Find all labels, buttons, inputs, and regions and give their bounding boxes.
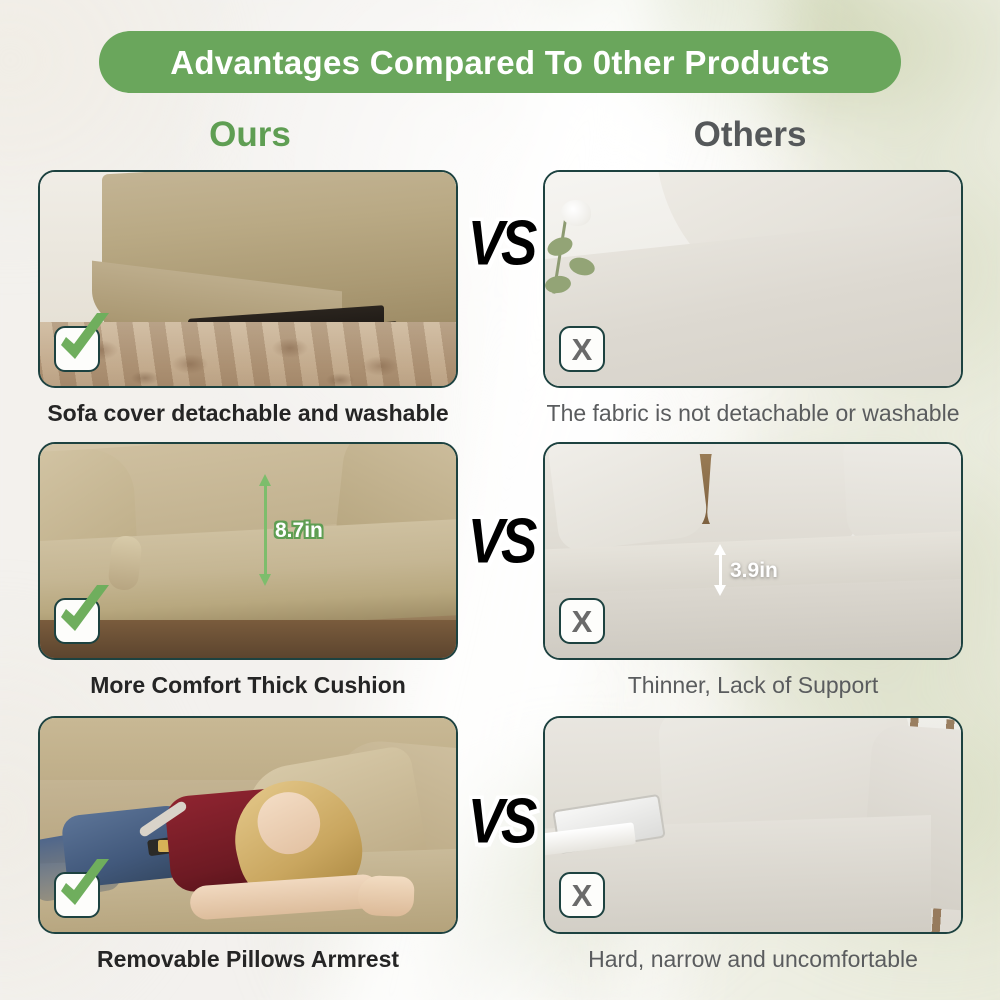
ours-photo-card-3 — [38, 716, 458, 934]
arrow-head-down — [259, 574, 271, 586]
ours-caption-1: Sofa cover detachable and washable — [38, 402, 458, 425]
photo-pillow — [842, 442, 963, 545]
others-caption-3: Hard, narrow and uncomfortable — [543, 948, 963, 971]
comparison-row-3: X VS Removable Pillows Armrest Hard, nar… — [0, 716, 1000, 984]
check-icon — [47, 311, 117, 375]
column-header-others: Others — [500, 117, 1000, 152]
measurement-arrow — [713, 544, 727, 596]
photo-person-hand — [357, 875, 414, 917]
page-title: Advantages Compared To 0ther Products — [170, 46, 830, 79]
arrow-shaft — [719, 552, 722, 588]
others-photo-card-1: X — [543, 170, 963, 388]
check-icon-badge — [54, 872, 100, 918]
check-icon-badge — [54, 326, 100, 372]
title-banner: Advantages Compared To 0ther Products — [99, 31, 901, 93]
check-icon — [47, 857, 117, 921]
comparison-row-2: 8.7in — [0, 442, 1000, 710]
cross-icon: X — [572, 606, 593, 637]
photo-pillow — [546, 442, 709, 553]
arrow-head-down — [714, 585, 726, 596]
cross-icon: X — [572, 880, 593, 911]
cross-icon-badge: X — [559, 872, 605, 918]
vs-badge-3: VS — [456, 790, 546, 853]
ours-caption-3: Removable Pillows Armrest — [38, 948, 458, 971]
arrow-shaft — [264, 482, 267, 578]
column-header-ours: Ours — [0, 117, 500, 152]
vs-badge-1: VS — [456, 212, 546, 275]
photo-pillow — [706, 442, 863, 547]
measurement-arrow — [258, 474, 272, 586]
ours-photo-card-2: 8.7in — [38, 442, 458, 660]
others-photo-card-3: X — [543, 716, 963, 934]
photo-hard-narrow-armrest — [545, 718, 961, 932]
vs-badge-2: VS — [456, 510, 546, 573]
measurement-value-ours: 8.7in — [275, 520, 323, 541]
comparison-row-1: X VS Sofa cover detachable and washable … — [0, 170, 1000, 438]
photo-fabric-not-detachable — [545, 172, 961, 386]
cross-icon-badge: X — [559, 598, 605, 644]
others-caption-2: Thinner, Lack of Support — [543, 674, 963, 697]
check-icon-badge — [54, 598, 100, 644]
others-photo-card-2: 3.9in X — [543, 442, 963, 660]
cross-icon-badge: X — [559, 326, 605, 372]
ours-caption-2: More Comfort Thick Cushion — [38, 674, 458, 697]
others-caption-1: The fabric is not detachable or washable — [543, 402, 963, 425]
photo-plant-flower — [561, 200, 591, 226]
measurement-ours-cushion-thickness: 8.7in — [258, 474, 323, 586]
check-icon — [47, 583, 117, 647]
ours-photo-card-1 — [38, 170, 458, 388]
cross-icon: X — [572, 334, 593, 365]
measurement-others-cushion-thickness: 3.9in — [713, 544, 778, 596]
measurement-value-others: 3.9in — [730, 560, 778, 581]
